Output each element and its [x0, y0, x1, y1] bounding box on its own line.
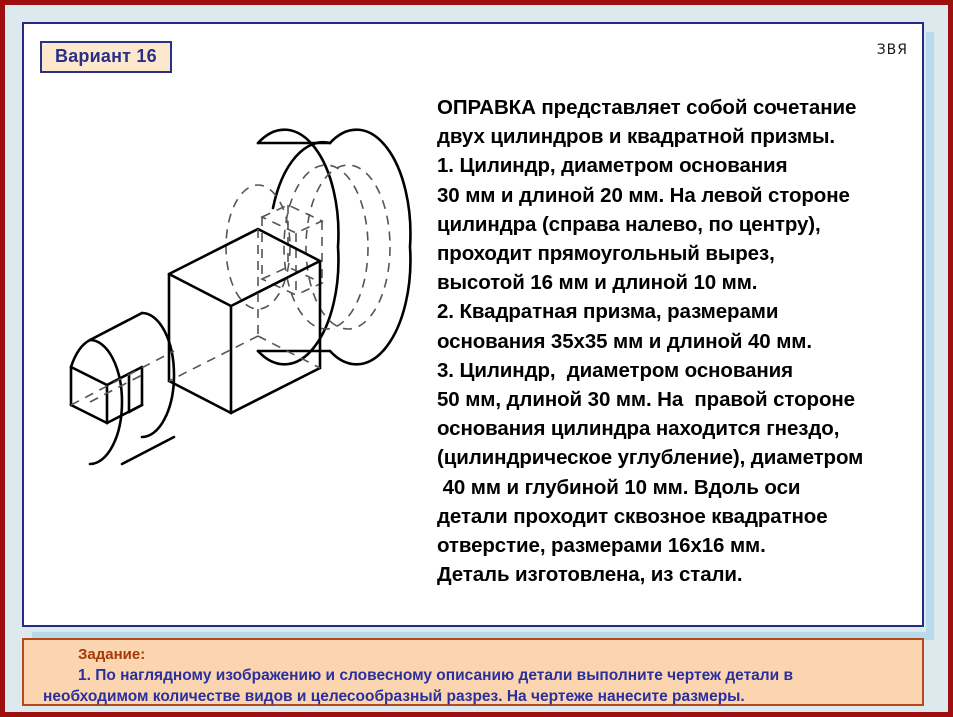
description-line: проходит прямоугольный вырез,: [437, 239, 923, 268]
rectangular-notch: [71, 367, 142, 423]
task-title: Задание:: [78, 645, 922, 665]
task-line: 1. По наглядному изображению и словесном…: [78, 665, 922, 686]
description-line: 1. Цилиндр, диаметром основания: [437, 151, 923, 180]
description-line: (цилиндрическое углубление), диаметром: [437, 443, 923, 472]
task-line: необходимом количестве видов и целесообр…: [43, 686, 922, 707]
left-cylinder: [71, 313, 174, 464]
slide-canvas: Вариант 16 ЗВЯ: [0, 0, 953, 717]
square-prism: [169, 229, 320, 413]
variant-badge-label: Вариант 16: [55, 46, 157, 66]
description-line: 2. Квадратная призма, размерами: [437, 297, 923, 326]
description-line: 3. Цилиндр, диаметром основания: [437, 356, 923, 385]
description-line: детали проходит сквозное квадратное: [437, 502, 923, 531]
corner-mark-label: ЗВЯ: [877, 42, 908, 58]
description-line: отверстие, размерами 16х16 мм.: [437, 531, 923, 560]
description-line: 50 мм, длиной 30 мм. На правой стороне: [437, 385, 923, 414]
description-line: 40 мм и глубиной 10 мм. Вдоль оси: [437, 473, 923, 502]
description-line: основания цилиндра находится гнездо,: [437, 414, 923, 443]
variant-badge: Вариант 16: [40, 41, 172, 73]
description-line: 30 мм и длиной 20 мм. На левой стороне: [437, 181, 923, 210]
description-line: двух цилиндров и квадратной призмы.: [437, 122, 923, 151]
description-line: основания 35х35 мм и длиной 40 мм.: [437, 327, 923, 356]
main-content-panel: Вариант 16 ЗВЯ: [22, 22, 924, 627]
description-line: ОПРАВКА представляет собой сочетание: [437, 93, 923, 122]
description-line: высотой 16 мм и длиной 10 мм.: [437, 268, 923, 297]
panel-shadow-right: [926, 32, 934, 632]
isometric-part-drawing: [30, 109, 450, 529]
corner-mark: ЗВЯ: [877, 42, 908, 58]
right-cylinder-hidden-detail: [226, 165, 390, 329]
square-prism-hidden-edges: [169, 229, 320, 381]
part-description: ОПРАВКА представляет собой сочетание дву…: [437, 93, 923, 589]
description-line: Деталь изготовлена, из стали.: [437, 560, 923, 589]
task-panel: Задание: 1. По наглядному изображению и …: [22, 638, 924, 706]
description-line: цилиндра (справа налево, по центру),: [437, 210, 923, 239]
part-drawing-svg: [30, 109, 450, 529]
